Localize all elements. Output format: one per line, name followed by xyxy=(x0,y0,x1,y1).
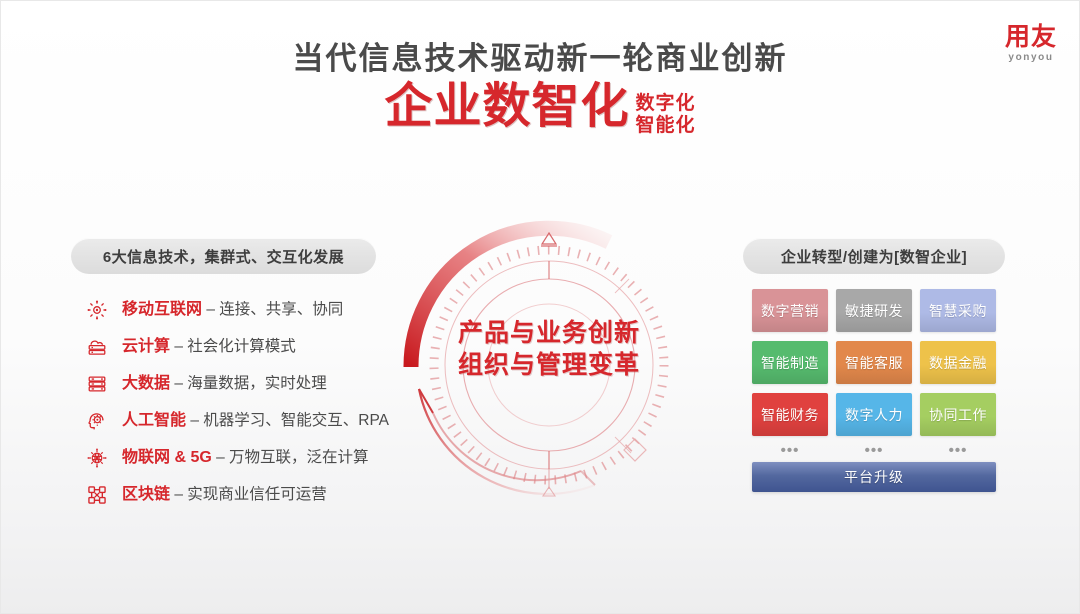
capability-card[interactable]: 数据金融 xyxy=(920,341,996,384)
capability-card-label: 数据金融 xyxy=(929,353,987,373)
list-item: 移动互联网 – 连接、共享、协同 xyxy=(85,293,465,327)
subtitle-line-1: 数字化 xyxy=(636,93,696,115)
ellipsis-marker: ••• xyxy=(920,443,996,458)
grid-ellipsis-row: ••• ••• ••• xyxy=(752,443,996,458)
main-subtitle: 数字化 智能化 xyxy=(636,93,696,138)
right-panel-heading-pill: 企业转型/创建为 [数智企业] xyxy=(743,238,1005,274)
capability-card[interactable]: 智能客服 xyxy=(836,341,912,384)
list-item-text: 物联网 & 5G – 万物互联，泛在计算 xyxy=(122,450,369,466)
iot-5g-icon xyxy=(85,446,109,470)
list-item-text: 人工智能 – 机器学习、智能交互、RPA xyxy=(122,413,389,429)
capability-card[interactable]: 协同工作 xyxy=(920,393,996,436)
list-item-name: 大数据 xyxy=(122,375,170,392)
list-item: 物联网 & 5G – 万物互联，泛在计算 xyxy=(85,441,465,475)
enterprise-capability-grid: 数字营销 敏捷研发 智慧采购 智能制造 智能客服 数据金融 智能财务 xyxy=(752,289,996,492)
capability-card-label: 智慧采购 xyxy=(929,301,987,321)
grid-row: 智能财务 数字人力 协同工作 xyxy=(752,393,996,436)
list-item-dash: – xyxy=(170,486,187,503)
list-item-desc: 连接、共享、协同 xyxy=(219,301,343,318)
big-data-icon xyxy=(85,372,109,396)
technology-list: 移动互联网 – 连接、共享、协同 云计算 – 社会化计算模式 xyxy=(85,293,465,515)
capability-card-label: 协同工作 xyxy=(929,405,987,425)
list-item-text: 云计算 – 社会化计算模式 xyxy=(122,339,296,355)
list-item-text: 大数据 – 海量数据，实时处理 xyxy=(122,376,327,392)
list-item-desc: 实现商业信任可运营 xyxy=(187,486,327,503)
list-item-dash: – xyxy=(202,301,219,318)
list-item-dash: – xyxy=(170,338,187,355)
list-item: 大数据 – 海量数据，实时处理 xyxy=(85,367,465,401)
capability-card-label: 智能财务 xyxy=(761,405,819,425)
brand-logo: 用友 yonyou xyxy=(1005,25,1057,63)
right-panel-heading-label-bracket: [数智企业] xyxy=(894,246,967,267)
main-title-group: 企业数智化 数字化 智能化 xyxy=(1,83,1079,138)
list-item-name: 物联网 & 5G xyxy=(122,449,212,466)
list-item-name: 人工智能 xyxy=(122,412,186,429)
slide-root: 当代信息技术驱动新一轮商业创新 企业数智化 数字化 智能化 用友 yonyou … xyxy=(0,0,1080,614)
capability-card[interactable]: 数字人力 xyxy=(836,393,912,436)
grid-row: 数字营销 敏捷研发 智慧采购 xyxy=(752,289,996,332)
capability-card-label: 敏捷研发 xyxy=(845,301,903,321)
list-item-dash: – xyxy=(212,449,229,466)
main-title: 企业数智化 xyxy=(384,83,629,131)
logo-mark-text: 用友 xyxy=(1005,25,1057,50)
list-item: 区块链 – 实现商业信任可运营 xyxy=(85,478,465,512)
list-item-text: 区块链 – 实现商业信任可运营 xyxy=(122,487,327,503)
capability-card[interactable]: 智能财务 xyxy=(752,393,828,436)
logo-name-text: yonyou xyxy=(1005,53,1057,63)
list-item-name: 区块链 xyxy=(122,486,170,503)
capability-card-label: 数字人力 xyxy=(845,405,903,425)
platform-upgrade-label: 平台升级 xyxy=(844,467,904,487)
mobile-internet-icon xyxy=(85,298,109,322)
list-item-desc: 万物互联，泛在计算 xyxy=(229,449,369,466)
ellipsis-marker: ••• xyxy=(836,443,912,458)
cloud-computing-icon xyxy=(85,335,109,359)
list-item-dash: – xyxy=(186,412,203,429)
right-panel-heading-label-bold: 企业转型/创建为 xyxy=(781,246,894,267)
platform-upgrade-bar[interactable]: 平台升级 xyxy=(752,462,996,492)
capability-card[interactable]: 数字营销 xyxy=(752,289,828,332)
left-panel-heading-label: 6大信息技术，集群式、交互化发展 xyxy=(103,246,344,267)
capability-card[interactable]: 敏捷研发 xyxy=(836,289,912,332)
list-item-desc: 社会化计算模式 xyxy=(187,338,296,355)
capability-card[interactable]: 智慧采购 xyxy=(920,289,996,332)
list-item-desc: 机器学习、智能交互、RPA xyxy=(203,412,389,429)
ellipsis-marker: ••• xyxy=(752,443,828,458)
page-title: 当代信息技术驱动新一轮商业创新 xyxy=(1,41,1079,77)
list-item-name: 移动互联网 xyxy=(122,301,202,318)
artificial-intelligence-icon xyxy=(85,409,109,433)
left-panel-heading-pill: 6大信息技术，集群式、交互化发展 xyxy=(71,238,376,274)
blockchain-icon xyxy=(85,483,109,507)
capability-card[interactable]: 智能制造 xyxy=(752,341,828,384)
capability-card-label: 智能制造 xyxy=(761,353,819,373)
list-item-text: 移动互联网 – 连接、共享、协同 xyxy=(122,302,343,318)
subtitle-line-2: 智能化 xyxy=(636,115,696,137)
list-item-desc: 海量数据，实时处理 xyxy=(187,375,327,392)
header: 当代信息技术驱动新一轮商业创新 企业数智化 数字化 智能化 xyxy=(1,41,1079,137)
list-item-name: 云计算 xyxy=(122,338,170,355)
list-item: 云计算 – 社会化计算模式 xyxy=(85,330,465,364)
list-item-dash: – xyxy=(170,375,187,392)
list-item: 人工智能 – 机器学习、智能交互、RPA xyxy=(85,404,465,438)
capability-card-label: 数字营销 xyxy=(761,301,819,321)
capability-card-label: 智能客服 xyxy=(845,353,903,373)
grid-row: 智能制造 智能客服 数据金融 xyxy=(752,341,996,384)
